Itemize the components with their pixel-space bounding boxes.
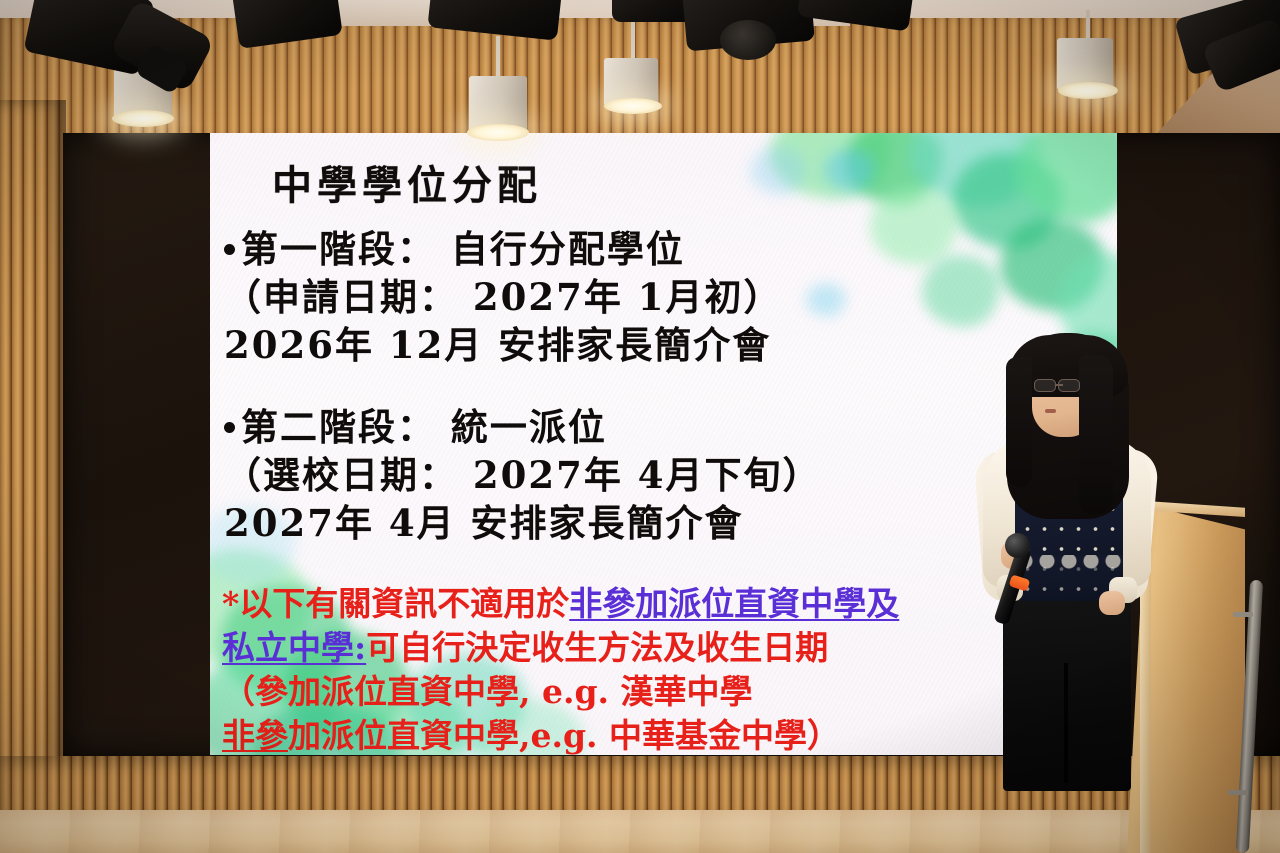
glasses-bridge-icon — [1056, 384, 1063, 386]
note-blue-underlined: 非參加派位直資中學及 — [569, 584, 899, 623]
presenter-hair-side-left — [1006, 357, 1032, 487]
handrail-bracket — [1228, 790, 1248, 795]
presenter-figure — [975, 333, 1175, 853]
note-red-prefix: *以下有關資訊不適用於 — [222, 584, 569, 623]
note-red-underlined: 非參 — [222, 716, 288, 755]
pendant-glow — [1058, 82, 1118, 99]
handrail-bracket — [1233, 612, 1253, 617]
note-blue-underlined: 私立中學: — [222, 628, 366, 667]
pendant-cord — [496, 36, 500, 76]
slide-title: 中學學位分配 — [272, 153, 542, 211]
pendant-glow — [112, 110, 174, 127]
wooden-slat-wall-left — [0, 100, 66, 853]
slide-note-line-2: 私立中學:可自行決定收生方法及收生日期 — [222, 621, 828, 669]
glasses-lens-left-icon — [1034, 379, 1056, 392]
slide-line: 2027年 4月 安排家長簡介會 — [224, 493, 744, 547]
presenter-mouth — [1045, 409, 1056, 413]
slide-note-line-3: （參加派位直資中學, e.g. 漢華中學 — [222, 665, 753, 713]
pendant-downlight — [590, 12, 676, 128]
presenter-hair-side-right — [1079, 355, 1113, 515]
presenter-hand-right — [1099, 591, 1125, 615]
slide-line: 2026年 12月 安排家長簡介會 — [224, 315, 771, 369]
note-red-rest: 加派位直資中學,e.g. 中華基金中學） — [288, 716, 840, 755]
slide-bullet-line: 第二階段： 統一派位 — [224, 397, 607, 451]
slide-line-text: 第二階段： 統一派位 — [241, 405, 607, 449]
slide-line-text: 第一階段： 自行分配學位 — [241, 227, 685, 271]
stage-spotlight-lens — [720, 20, 776, 60]
note-red-suffix: 可自行決定收生方法及收生日期 — [366, 628, 828, 667]
pendant-downlight — [455, 36, 541, 152]
microphone-head-icon — [1005, 533, 1030, 558]
slide-line: （選校日期： 2027年 4月下旬） — [224, 445, 822, 499]
pendant-glow — [604, 98, 662, 114]
presenter-leg-split — [1064, 663, 1068, 783]
slide-note-line-1: *以下有關資訊不適用於非參加派位直資中學及 — [222, 577, 899, 625]
presentation-hall-scene: 中學學位分配 第一階段： 自行分配學位 （申請日期： 2027年 1月初） 20… — [0, 0, 1280, 853]
pendant-cord — [1086, 10, 1090, 38]
pendant-downlight — [1045, 10, 1131, 130]
bullet-dot-icon — [224, 244, 235, 255]
pendant-glow — [467, 124, 529, 141]
slide-line: （申請日期： 2027年 1月初） — [224, 267, 783, 321]
slide-note-line-4: 非參加派位直資中學,e.g. 中華基金中學） — [222, 709, 840, 755]
bullet-dot-icon — [224, 422, 235, 433]
slide-bullet-line: 第一階段： 自行分配學位 — [224, 219, 685, 273]
